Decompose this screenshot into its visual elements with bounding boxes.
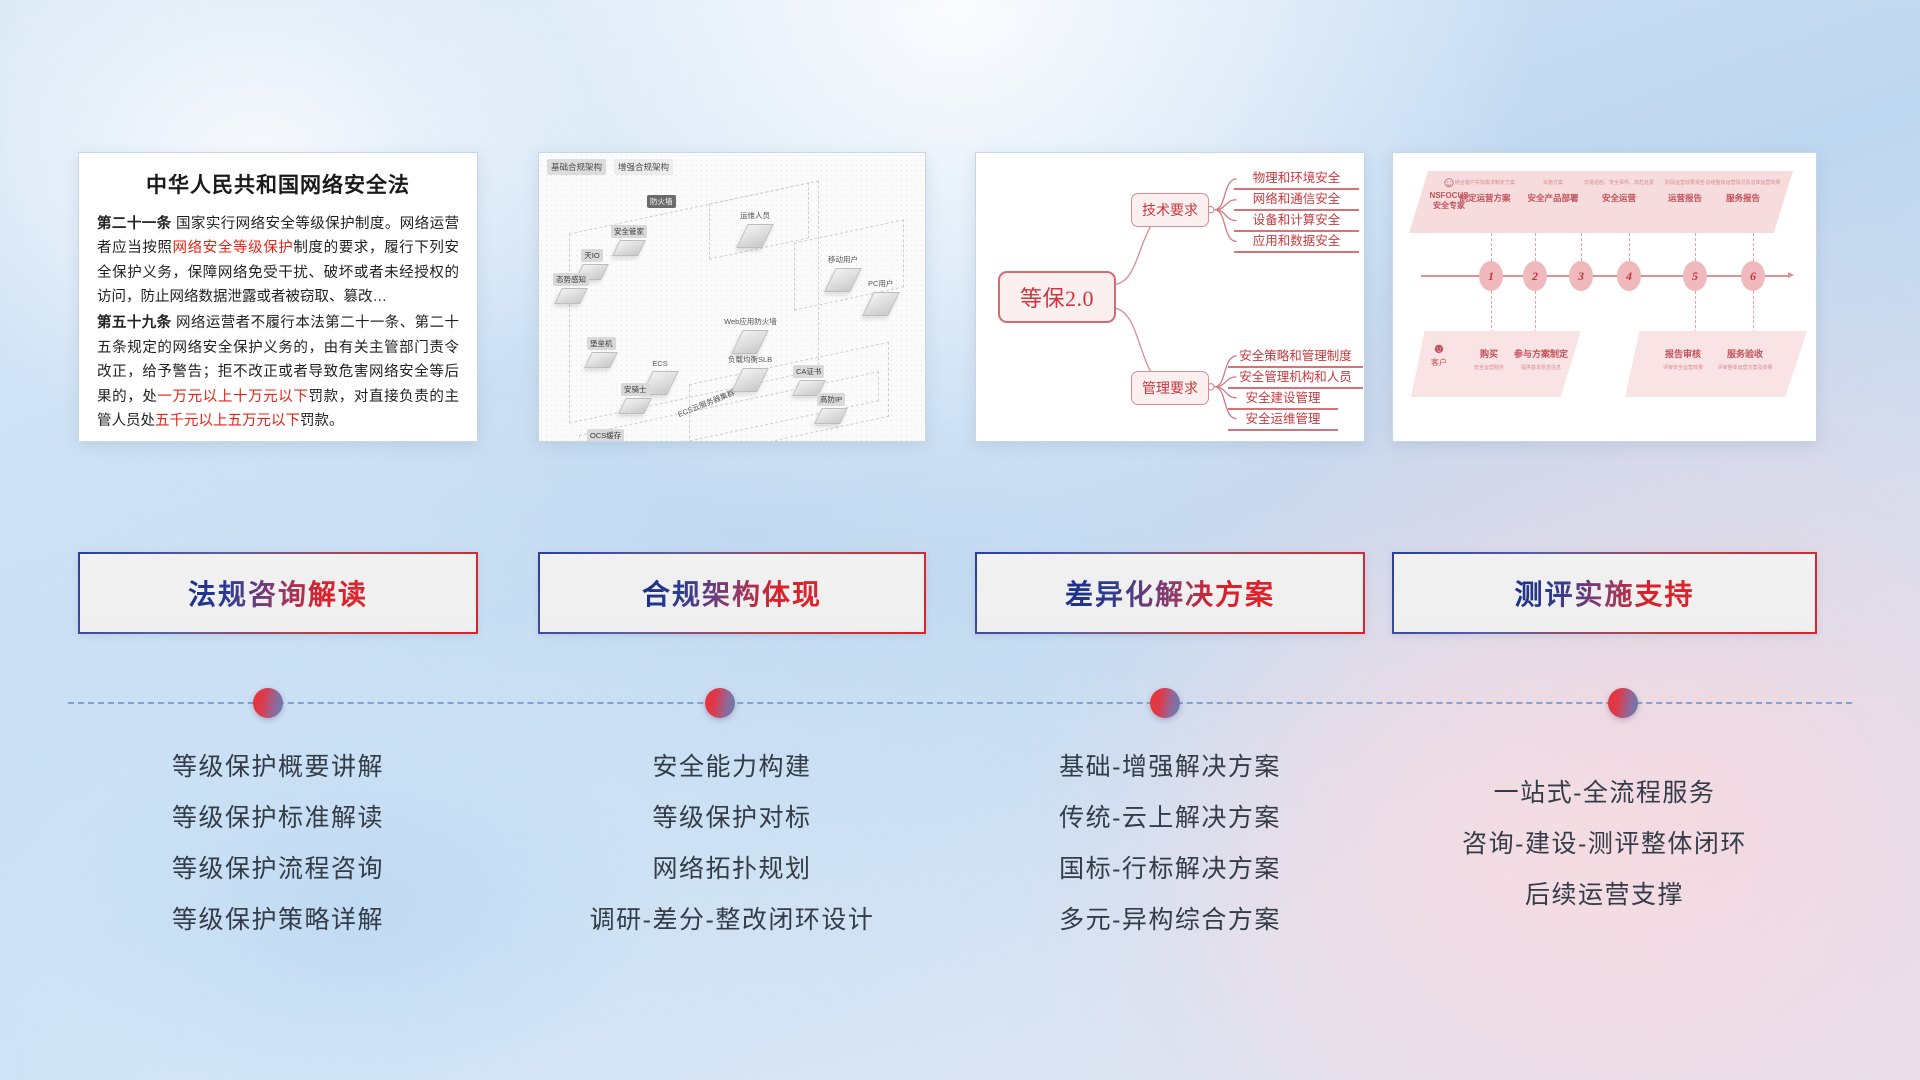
- law-article-59: 第五十九条 网络运营者不履行本法第二十一条、第二十五条规定的网络安全保护义务的，…: [97, 311, 459, 433]
- detail-column-4: 一站式-全流程服务 咨询-建设-测评整体闭环 后续运营支撑: [1392, 742, 1817, 921]
- arch-node-label: 运维人员: [737, 209, 773, 222]
- arch-node-label: 态势感知: [553, 273, 589, 286]
- law-title: 中华人民共和国网络安全法: [97, 169, 459, 199]
- process-outcome-item: 报告审核评审安全运营效果: [1663, 347, 1703, 371]
- law-a59-s1: 一万元以上十万元以下: [157, 389, 308, 405]
- process-step-4[interactable]: 4: [1617, 261, 1641, 291]
- process-band-item: 总结整体运营情况及总体运营效果服务报告: [1705, 179, 1780, 204]
- section-title-box-1[interactable]: 法规咨询解读: [78, 552, 478, 634]
- detail-item: 等级保护概要讲解: [78, 742, 478, 793]
- mindmap-leaf-mgmt-4: 安全运维管理: [1228, 408, 1338, 431]
- card-compliance-architecture: 基础合规架构 增强合规架构 防火墙安全管家天IO态势感知堡垒机ECS安骑士OCS…: [538, 152, 926, 442]
- process-connector: [1629, 233, 1630, 261]
- arch-node-glyph: [554, 288, 588, 304]
- law-a59-s3: 五千元以上五万元以下: [155, 413, 300, 429]
- arch-node: 负载均衡SLB: [725, 349, 775, 392]
- timeline-dot-4[interactable]: [1608, 688, 1638, 718]
- process-connector: [1753, 233, 1754, 261]
- section-title-4: 测评实施支持: [1514, 573, 1694, 613]
- arch-node-label: 防火墙: [647, 195, 676, 208]
- detail-column-3: 基础-增强解决方案 传统-云上解决方案 国标-行标解决方案 多元-异构综合方案: [975, 742, 1365, 946]
- arch-node-label: 安骑士: [621, 383, 650, 396]
- detail-column-1: 等级保护概要讲解 等级保护标准解读 等级保护流程咨询 等级保护策略详解: [78, 742, 478, 946]
- timeline: [0, 682, 1920, 724]
- arch-node: 态势感知: [553, 269, 589, 304]
- arch-node-glyph: [814, 408, 848, 424]
- card-row: 中华人民共和国网络安全法 第二十一条 国家实行网络安全等级保护制度。网络运营者应…: [0, 152, 1920, 442]
- detail-item: 国标-行标解决方案: [975, 844, 1365, 895]
- mindmap-leaf-mgmt-3: 安全建设管理: [1228, 387, 1338, 410]
- law-a21-s1: 网络安全等级保护: [173, 240, 294, 256]
- arch-node-label: PC用户: [865, 277, 896, 290]
- process-outcome-sub: 安全运营服务: [1474, 364, 1504, 371]
- arch-node: ECS云服务器集群: [673, 393, 739, 412]
- mindmap-leaf-mgmt-1: 安全策略和管理制度: [1228, 345, 1363, 368]
- section-title-box-3[interactable]: 差异化解决方案: [975, 552, 1365, 634]
- arch-node: 运维人员: [737, 205, 773, 248]
- arch-node-label: 安全管家: [611, 225, 647, 238]
- timeline-dot-1[interactable]: [253, 688, 283, 718]
- detail-item: 多元-异构综合方案: [975, 895, 1365, 946]
- mindmap-branch-management: 管理要求: [1131, 371, 1209, 405]
- mindmap: 等保2.0 技术要求 管理要求 物理和环境安全 网络和通信安全 设备和计算安全 …: [976, 153, 1364, 441]
- arch-node-glyph: [584, 352, 618, 368]
- detail-item: 网络拓扑规划: [538, 844, 926, 895]
- process-outcome-sub: 提供基本信息信息: [1514, 364, 1568, 371]
- detail-item: 等级保护策略详解: [78, 895, 478, 946]
- arch-node: OCS缓存: [587, 425, 624, 442]
- process-connector: [1695, 233, 1696, 261]
- process-band-item: 日常巡检、安全事件、高危处置安全运营: [1584, 179, 1654, 204]
- process-outcome-item: 服务验收评审整体运营方案及效果: [1717, 347, 1772, 371]
- mindmap-branch-technical: 技术要求: [1131, 193, 1209, 227]
- process-outcome-item: 参与方案制定提供基本信息信息: [1514, 347, 1568, 371]
- arch-node: ECS: [647, 353, 673, 395]
- timeline-dot-3[interactable]: [1150, 688, 1180, 718]
- detail-item: 调研-差分-整改闭环设计: [538, 895, 926, 946]
- detail-column-2: 安全能力构建 等级保护对标 网络拓扑规划 调研-差分-整改闭环设计: [538, 742, 926, 946]
- law-article-21-label: 第二十一条: [97, 216, 172, 232]
- arch-node: 安骑士: [621, 379, 650, 414]
- arch-node-label: Web应用防火墙: [721, 315, 780, 328]
- arch-node: PC用户: [865, 273, 896, 316]
- arch-node: 移动用户: [825, 249, 861, 292]
- section-title-box-4[interactable]: 测评实施支持: [1392, 552, 1817, 634]
- detail-item: 咨询-建设-测评整体闭环: [1392, 819, 1817, 870]
- process-band-item-sub: 总结整体运营情况及总体运营效果: [1705, 179, 1780, 186]
- process-connector: [1535, 291, 1536, 333]
- process-outcome-sub: 评审整体运营方案及效果: [1717, 364, 1772, 371]
- process-band-item-title: 运营报告: [1665, 192, 1705, 204]
- process-band-item: 阶段运营效果报告运营报告: [1665, 179, 1705, 204]
- timeline-dashed-line: [68, 702, 1852, 704]
- arch-node-glyph: [736, 224, 774, 248]
- detail-item: 一站式-全流程服务: [1392, 768, 1817, 819]
- process-step-2[interactable]: 2: [1523, 261, 1547, 291]
- process-connector: [1491, 291, 1492, 333]
- slide-stage: 中华人民共和国网络安全法 第二十一条 国家实行网络安全等级保护制度。网络运营者应…: [0, 0, 1920, 1080]
- mindmap-leaf-tech-2: 网络和通信安全: [1234, 188, 1359, 211]
- process-outcome-sub: 评审安全运营效果: [1663, 364, 1703, 371]
- architecture-tabs: 基础合规架构 增强合规架构: [547, 159, 673, 175]
- arch-node-glyph: [612, 240, 646, 256]
- mindmap-leaf-tech-3: 设备和计算安全: [1234, 209, 1359, 232]
- process-band-item: 结合客户实际需求制定方案制定运营方案: [1455, 179, 1515, 204]
- arch-node: 防火墙: [647, 191, 676, 210]
- section-title-1: 法规咨询解读: [188, 573, 368, 613]
- arch-node-label: 高防IP: [817, 393, 845, 406]
- law-article-59-label: 第五十九条: [97, 315, 172, 331]
- process-trapezoid-right: [1625, 331, 1807, 397]
- card-cybersecurity-law: 中华人民共和国网络安全法 第二十一条 国家实行网络安全等级保护制度。网络运营者应…: [78, 152, 478, 442]
- section-title-2: 合规架构体现: [642, 573, 822, 613]
- section-title-3: 差异化解决方案: [1065, 573, 1275, 613]
- process-step-6[interactable]: 6: [1741, 261, 1765, 291]
- process-band-item: 实施方案安全产品部署: [1527, 179, 1578, 204]
- law-a59-s4: 罚款。: [300, 413, 344, 429]
- arch-node-glyph: [824, 268, 862, 292]
- process-outcome-title: 服务验收: [1717, 347, 1772, 360]
- process-axis: [1421, 275, 1789, 277]
- card-dengbao-mindmap: 等保2.0 技术要求 管理要求 物理和环境安全 网络和通信安全 设备和计算安全 …: [975, 152, 1365, 442]
- mindmap-root: 等保2.0: [998, 271, 1116, 323]
- arch-node-label: ECS: [649, 358, 670, 369]
- detail-columns: 等级保护概要讲解 等级保护标准解读 等级保护流程咨询 等级保护策略详解 安全能力…: [0, 742, 1920, 952]
- detail-item: 安全能力构建: [538, 742, 926, 793]
- timeline-dot-2[interactable]: [705, 688, 735, 718]
- process-step-5[interactable]: 5: [1683, 261, 1707, 291]
- mindmap-leaf-tech-4: 应用和数据安全: [1234, 230, 1359, 253]
- detail-item: 等级保护对标: [538, 793, 926, 844]
- process-outcome-item: 购买安全运营服务: [1474, 347, 1504, 371]
- arch-node: 堡垒机: [587, 333, 616, 368]
- arch-tab-enhanced[interactable]: 增强合规架构: [614, 159, 673, 175]
- process-band-item-sub: 日常巡检、安全事件、高危处置: [1584, 179, 1654, 186]
- process-connector: [1753, 291, 1754, 333]
- arch-node: 高防IP: [817, 389, 845, 424]
- process-band-item-title: 服务报告: [1705, 192, 1780, 204]
- detail-item: 后续运营支撑: [1392, 870, 1817, 921]
- process-band-item-title: 安全产品部署: [1527, 192, 1578, 204]
- arch-node-glyph: [862, 292, 900, 316]
- process-connector: [1535, 233, 1536, 261]
- section-title-box-2[interactable]: 合规架构体现: [538, 552, 926, 634]
- arch-node-label: 负载均衡SLB: [725, 353, 775, 366]
- process-band-item-title: 安全运营: [1584, 192, 1654, 204]
- law-body: 中华人民共和国网络安全法 第二十一条 国家实行网络安全等级保护制度。网络运营者应…: [79, 153, 477, 442]
- detail-item: 基础-增强解决方案: [975, 742, 1365, 793]
- customer-icon: ☻: [1419, 341, 1459, 355]
- process-band-item-sub: 结合客户实际需求制定方案: [1455, 179, 1515, 186]
- mindmap-leaf-mgmt-2: 安全管理机构和人员: [1228, 366, 1363, 389]
- process-band-item-sub: 阶段运营效果报告: [1665, 179, 1705, 186]
- arch-node-label: OCS缓存: [587, 429, 624, 442]
- arch-node: 安全管家: [611, 221, 647, 256]
- card-nsfocus-process: ☺ NSFOCUS 安全专家 结合客户实际需求制定方案制定运营方案实施方案安全产…: [1392, 152, 1817, 442]
- arch-node: Web应用防火墙: [721, 311, 780, 354]
- arch-node-glyph: [731, 368, 769, 392]
- customer-label: 客户: [1419, 357, 1459, 368]
- detail-item: 传统-云上解决方案: [975, 793, 1365, 844]
- arch-node-glyph: [618, 398, 652, 414]
- law-article-21: 第二十一条 国家实行网络安全等级保护制度。网络运营者应当按照网络安全等级保护制度…: [97, 212, 459, 309]
- arch-node-label: 天IO: [581, 249, 602, 262]
- process-connector: [1695, 291, 1696, 333]
- customer-block: ☻ 客户: [1419, 341, 1459, 368]
- arch-node-label: 堡垒机: [587, 337, 616, 350]
- detail-item: 等级保护标准解读: [78, 793, 478, 844]
- process-diagram: ☺ NSFOCUS 安全专家 结合客户实际需求制定方案制定运营方案实施方案安全产…: [1393, 153, 1816, 441]
- mindmap-leaf-tech-1: 物理和环境安全: [1234, 167, 1359, 190]
- arch-tab-basic[interactable]: 基础合规架构: [547, 159, 606, 175]
- process-band-item-title: 制定运营方案: [1455, 192, 1515, 204]
- arch-node-label: 移动用户: [825, 253, 861, 266]
- process-outcome-title: 参与方案制定: [1514, 347, 1568, 360]
- process-connector: [1491, 233, 1492, 261]
- architecture-diagram: 基础合规架构 增强合规架构 防火墙安全管家天IO态势感知堡垒机ECS安骑士OCS…: [539, 153, 925, 441]
- process-outcome-title: 报告审核: [1663, 347, 1703, 360]
- process-connector: [1581, 233, 1582, 261]
- detail-item: 等级保护流程咨询: [78, 844, 478, 895]
- process-band-item-sub: 实施方案: [1527, 179, 1578, 186]
- process-step-1[interactable]: 1: [1479, 261, 1503, 291]
- section-title-row: 法规咨询解读 合规架构体现 差异化解决方案 测评实施支持: [0, 552, 1920, 634]
- arch-node-label: CA证书: [793, 365, 824, 378]
- process-outcome-title: 购买: [1474, 347, 1504, 360]
- process-step-3[interactable]: 3: [1569, 261, 1593, 291]
